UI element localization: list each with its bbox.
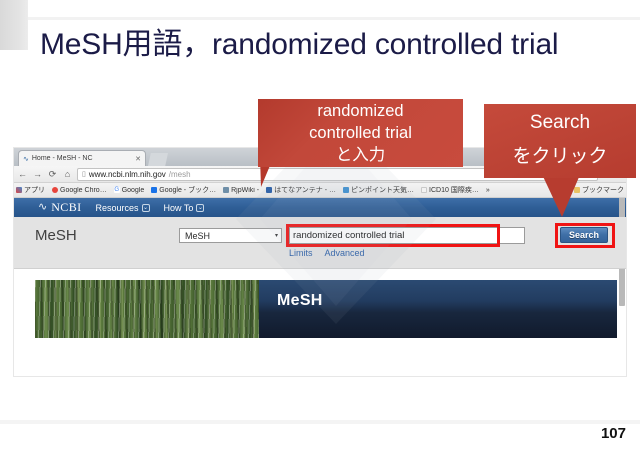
- slide-corner-decoration: [0, 0, 28, 50]
- callout-line-2: をクリック: [484, 140, 636, 174]
- address-bar-host: www.ncbi.nlm.nih.gov: [89, 170, 166, 179]
- rjpwiki-favicon-icon: [223, 187, 229, 193]
- home-button[interactable]: ⌂: [62, 170, 73, 179]
- apps-grid-icon: [16, 187, 22, 193]
- mesh-banner-title-panel: MeSH: [259, 280, 617, 338]
- mesh-search-panel: MeSH MeSH ▾ randomized controlled trial …: [14, 217, 626, 269]
- bookmark-label: Google: [122, 187, 145, 194]
- bookmark-apps[interactable]: アプリ: [16, 185, 45, 195]
- mesh-wordmark: MeSH: [35, 227, 77, 244]
- bookmark-label: RjpWiki -: [231, 187, 259, 194]
- ncbi-header-bar: ∿ NCBI Resources ⌄ How To ⌄: [14, 198, 626, 217]
- callout-line-2: controlled trial: [258, 122, 463, 144]
- chevron-down-icon: ▾: [275, 232, 278, 239]
- bookmark-item[interactable]: ピンポイント天気…: [343, 185, 414, 195]
- click-search-callout: Search をクリック: [484, 104, 636, 178]
- callout-line-3: と入力: [258, 144, 463, 166]
- ncbi-menu-how-to[interactable]: How To ⌄: [164, 203, 205, 213]
- bookmark-item[interactable]: RjpWiki -: [223, 187, 259, 194]
- chrome-favicon-icon: [52, 187, 58, 193]
- mesh-banner-title: MeSH: [277, 292, 323, 310]
- dna-icon: ∿: [38, 202, 47, 213]
- icd10-favicon-icon: [421, 187, 427, 193]
- database-select[interactable]: MeSH ▾: [179, 228, 282, 243]
- menu-label: Resources: [96, 203, 139, 213]
- search-input[interactable]: randomized controlled trial: [289, 227, 525, 244]
- reload-button[interactable]: ⟳: [47, 170, 58, 179]
- google-favicon-icon: G: [114, 187, 120, 193]
- slide-canvas: MeSH用語，randomized controlled trial ∿ Hom…: [0, 0, 640, 453]
- ncbi-menu-resources[interactable]: Resources ⌄: [96, 203, 150, 213]
- footer-divider: [0, 420, 640, 424]
- bookmark-label: Google Chro…: [60, 187, 107, 194]
- tab-title: Home - MeSH - NC: [32, 155, 132, 162]
- search-sub-links: Limits Advanced: [289, 248, 365, 258]
- bookmark-item[interactable]: G Google: [114, 187, 145, 194]
- bookmark-label: Google - ブック…: [159, 185, 216, 195]
- browser-screenshot: ∿ Home - MeSH - NC ✕ ▴ ← → ⟳ ⌂ ▯ www.ncb…: [14, 148, 626, 376]
- search-input-wrapper: randomized controlled trial: [289, 227, 525, 244]
- forward-button[interactable]: →: [32, 170, 43, 179]
- bookmark-item[interactable]: Google Chro…: [52, 187, 107, 194]
- callout-line-1: randomized: [258, 100, 463, 122]
- page-number: 107: [601, 425, 626, 442]
- weather-favicon-icon: [343, 187, 349, 193]
- bookmark-item[interactable]: ICD10 国際疾…: [421, 185, 479, 195]
- content-gap: [14, 269, 626, 280]
- bookmark-overflow[interactable]: »: [486, 187, 490, 194]
- search-button[interactable]: Search: [560, 227, 608, 243]
- mesh-banner: MeSH: [35, 280, 617, 338]
- close-icon[interactable]: ✕: [135, 155, 141, 163]
- bookmark-label: アプリ: [24, 185, 45, 195]
- menu-label: How To: [164, 203, 194, 213]
- chevron-down-icon: ⌄: [196, 204, 204, 212]
- ncbi-logo-text: NCBI: [51, 200, 81, 215]
- chevron-down-icon: ⌄: [142, 204, 150, 212]
- input-instruction-callout: randomized controlled trial と入力: [258, 99, 463, 167]
- browser-tab[interactable]: ∿ Home - MeSH - NC ✕: [18, 150, 146, 166]
- bookmark-label: ピンポイント天気…: [351, 185, 414, 195]
- bookmark-label: ICD10 国際疾…: [429, 185, 479, 195]
- tab-favicon-icon: ∿: [23, 155, 29, 163]
- new-tab-button[interactable]: [148, 153, 168, 166]
- back-button[interactable]: ←: [17, 170, 28, 179]
- bookmark-label: »: [486, 187, 490, 194]
- bookmark-item[interactable]: Google - ブック…: [151, 185, 216, 195]
- page-info-icon: ▯: [82, 170, 86, 178]
- slide-top-divider: [28, 17, 640, 20]
- limits-link[interactable]: Limits: [289, 248, 313, 258]
- advanced-link[interactable]: Advanced: [325, 248, 365, 258]
- callout-line-1: Search: [484, 106, 636, 140]
- page-title: MeSH用語，randomized controlled trial: [40, 23, 630, 67]
- search-button-wrapper: Search: [560, 227, 608, 243]
- bookmarks-bar: アプリ Google Chro… G Google Google - ブック… …: [14, 183, 626, 198]
- bamboo-forest-photo: [35, 280, 259, 338]
- database-select-value: MeSH: [185, 231, 210, 241]
- google-books-favicon-icon: [151, 187, 157, 193]
- ncbi-logo[interactable]: ∿ NCBI: [38, 200, 82, 215]
- address-bar-path: /mesh: [169, 170, 191, 179]
